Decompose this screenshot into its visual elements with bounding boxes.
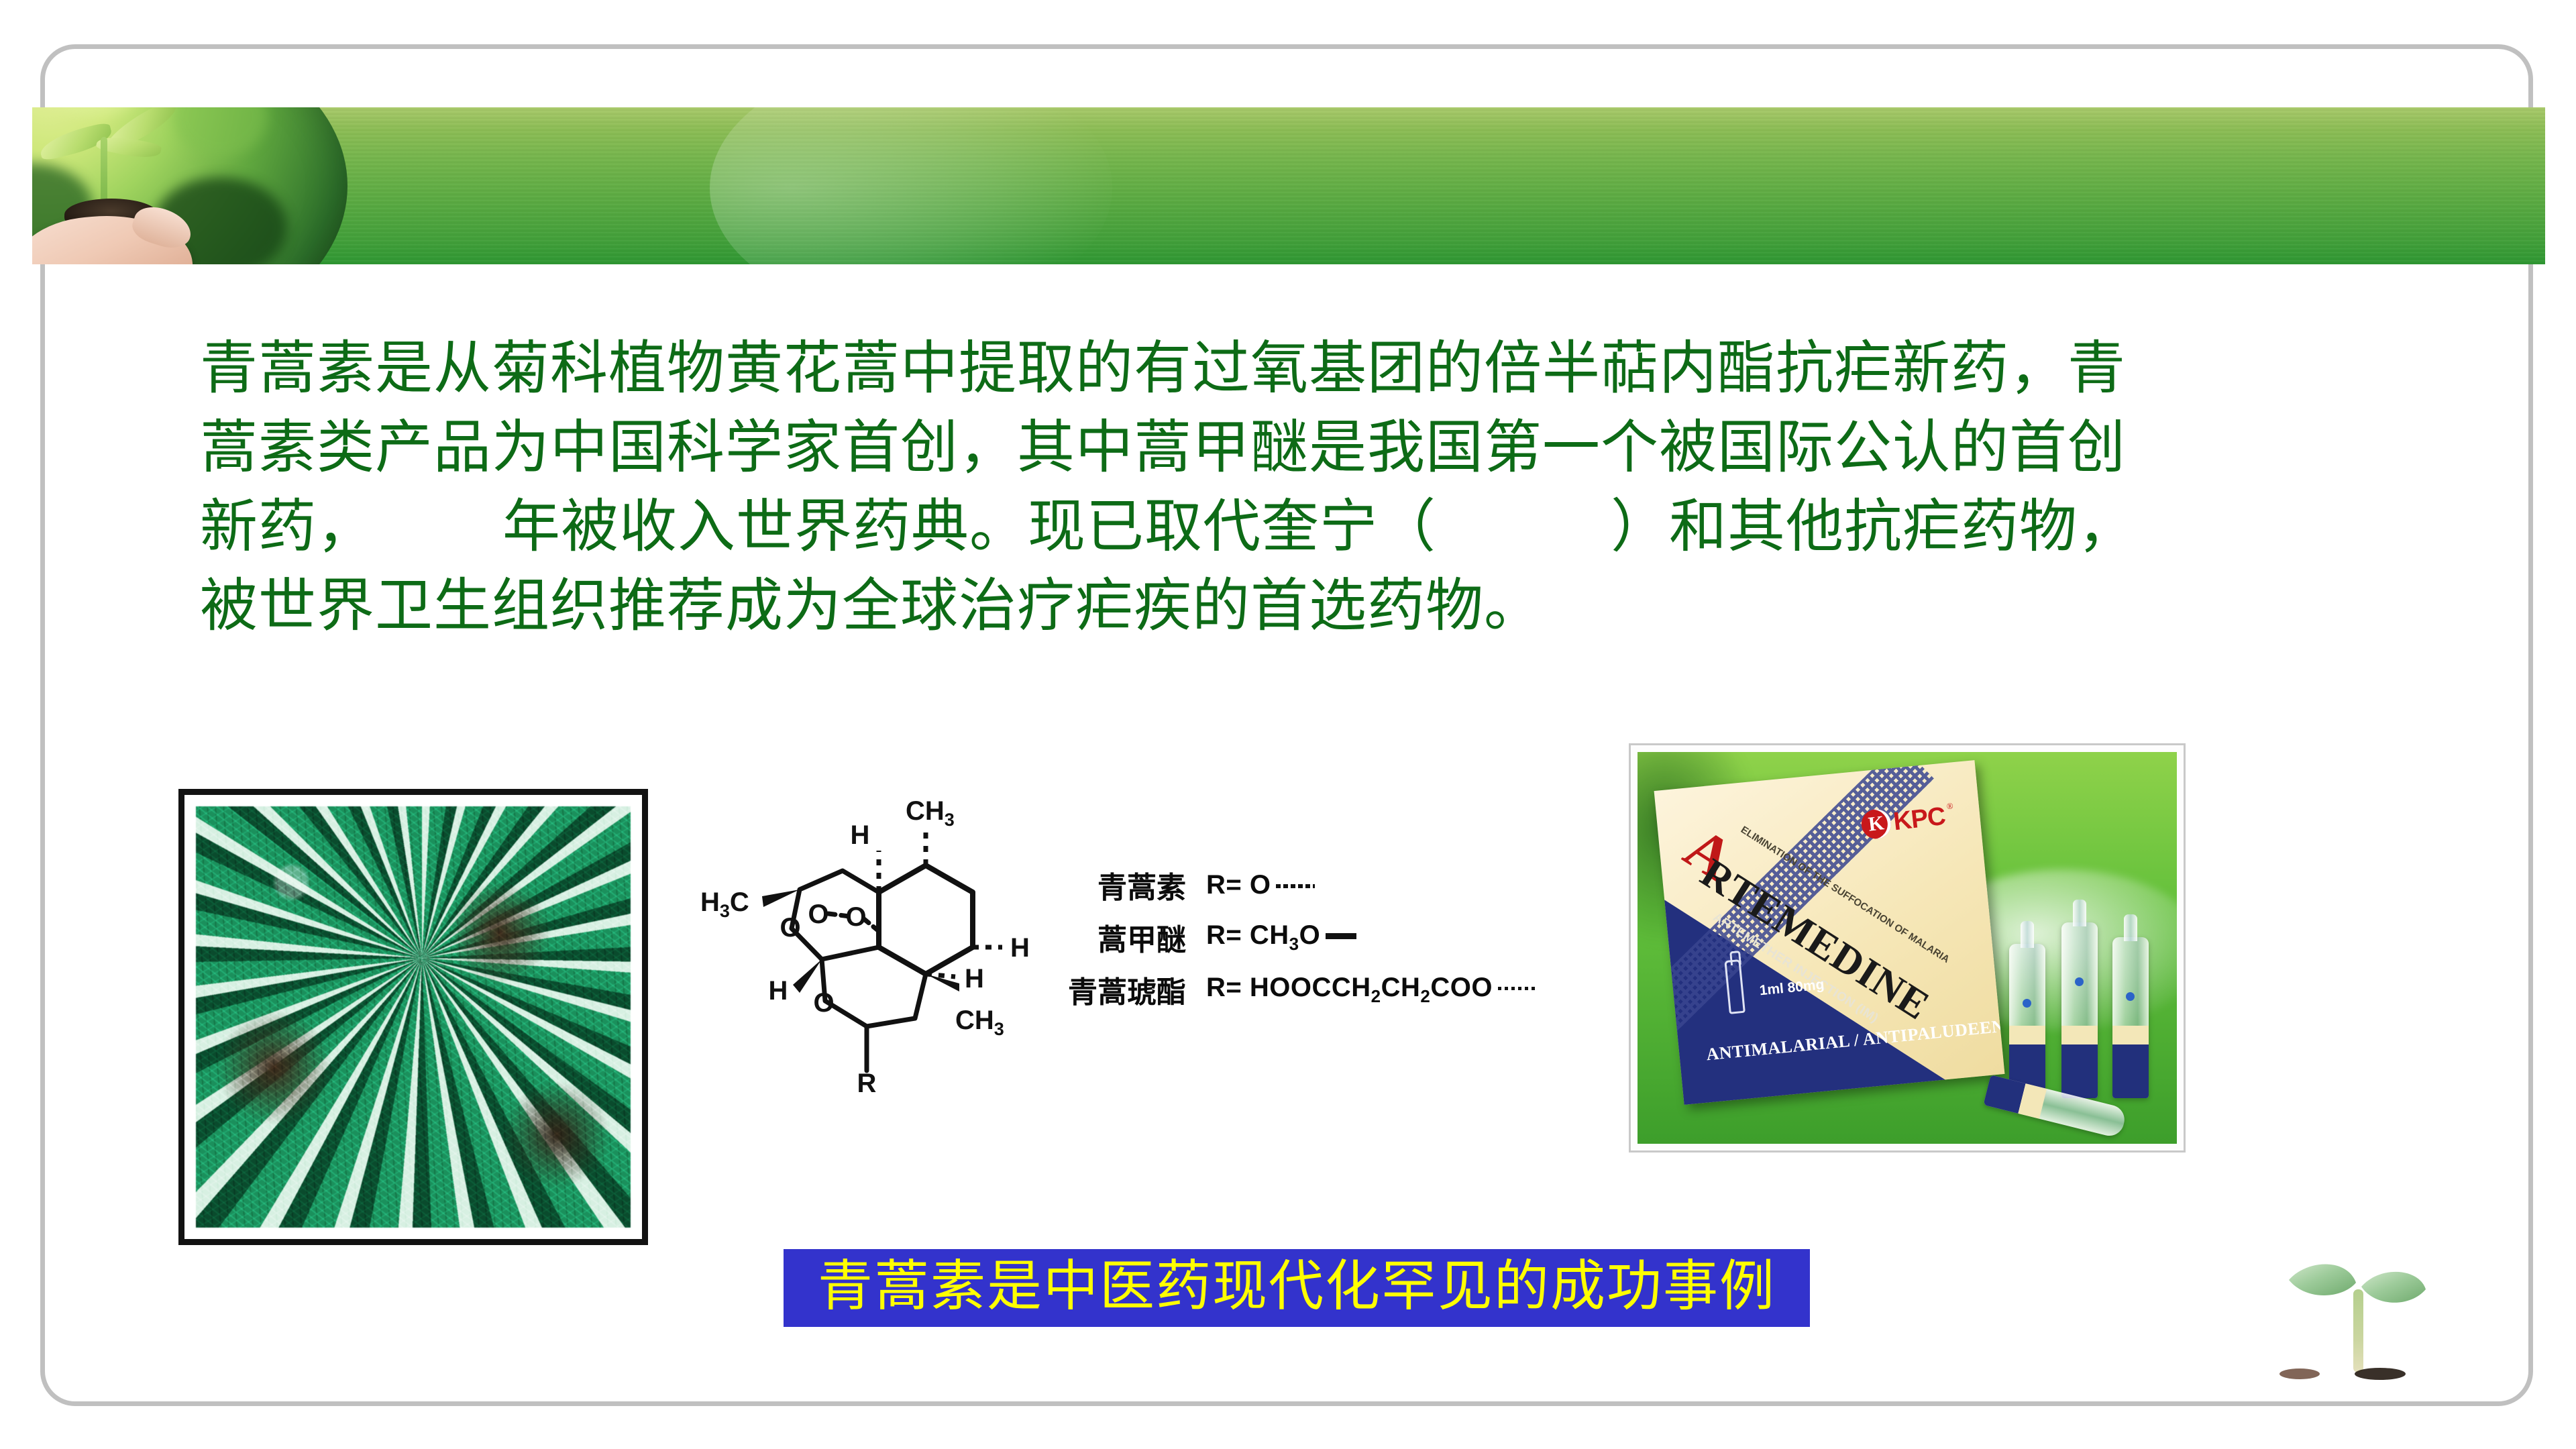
artemisia-plant-photo <box>196 806 631 1228</box>
body-paragraph: 青蒿素是从菊科植物黄花蒿中提取的有过氧基团的倍半萜内酯抗疟新药，青蒿素类产品为中… <box>200 329 2414 645</box>
sprout-decoration-icon <box>2267 1241 2469 1415</box>
header-band <box>32 107 2545 264</box>
artemedine-photo-frame: ELIMINATION OF THE SUFFOCATION OF MALARI… <box>1629 743 2186 1152</box>
paragraph-line-3b: 年被收入世界药典。现已取代奎宁（ <box>502 494 1436 559</box>
kpc-logo-text: KPC <box>1892 802 1947 836</box>
label-h-left: H <box>769 976 788 1006</box>
ampoule-lying <box>1984 1075 2128 1138</box>
label-ch3-bottom: CH3 <box>955 1006 1004 1039</box>
legend-row: 青蒿素 R= O <box>1026 859 1536 911</box>
legend-name-artemether: 蒿甲醚 <box>1026 916 1206 959</box>
legend-formula-artesunate: R= HOOCCH2CH2COO <box>1206 973 1536 1007</box>
paragraph-line-2: 蒿素类产品为中国科学家首创，其中蒿甲醚是我国第一个被国际公认的首创 <box>200 408 2414 487</box>
seedling-stem <box>101 137 107 204</box>
legend-row: 蒿甲醚 R= CH3O <box>1026 911 1536 963</box>
artemedine-photo: ELIMINATION OF THE SUFFOCATION OF MALARI… <box>1638 752 2177 1144</box>
legend-row: 青蒿琥酯 R= HOOCCH2CH2COO <box>1026 963 1536 1016</box>
solid-bond-icon <box>1326 933 1356 939</box>
label-h-top: H <box>851 820 870 850</box>
label-h-right-lower: H <box>965 964 984 994</box>
registered-mark-icon: ® <box>1946 800 1954 812</box>
paragraph-line-4: 被世界卫生组织推荐成为全球治疗疟疾的首选药物。 <box>200 566 2414 645</box>
label-h3c-left: H3C <box>700 888 749 921</box>
header-photo-oval <box>32 107 347 264</box>
slide-canvas: 青蒿素是从菊科植物黄花蒿中提取的有过氧基团的倍半萜内酯抗疟新药，青蒿素类产品为中… <box>0 0 2576 1449</box>
paragraph-line-3c: ）和其他抗疟药物， <box>1611 494 2136 559</box>
paragraph-line-3a: 新药， <box>200 494 375 559</box>
legend-name-artemisinin: 青蒿素 <box>1026 863 1206 906</box>
highlight-caption-banner: 青蒿素是中医药现代化罕见的成功事例 <box>784 1249 1810 1327</box>
kpc-logo-mark: K <box>1860 808 1892 841</box>
medicine-box: ELIMINATION OF THE SUFFOCATION OF MALARI… <box>1654 760 2005 1105</box>
label-o-lactone: O <box>813 988 834 1018</box>
label-o-peroxide-1: O <box>808 900 828 929</box>
ampoule <box>2112 937 2149 1098</box>
paragraph-line-1: 青蒿素是从菊科植物黄花蒿中提取的有过氧基团的倍半萜内酯抗疟新药，青 <box>200 329 2414 408</box>
wavy-bond-icon <box>1276 884 1315 888</box>
legend-formula-artemisinin: R= O <box>1206 870 1315 900</box>
bokeh-blob <box>173 107 267 157</box>
legend-name-artesunate: 青蒿琥酯 <box>1026 968 1206 1011</box>
label-o-ring: O <box>780 913 800 943</box>
paragraph-line-3: 新药，年被收入世界药典。现已取代奎宁（）和其他抗疟药物， <box>200 487 2414 566</box>
header-seedling-photo <box>32 107 347 264</box>
legend-formula-artemether: R= CH3O <box>1206 920 1356 955</box>
ampoule-group <box>1972 917 2159 1138</box>
ampoule <box>2061 922 2098 1098</box>
label-r-group: R <box>857 1069 877 1098</box>
dotted-bond-icon <box>1498 987 1536 990</box>
structure-legend: 青蒿素 R= O 蒿甲醚 R= CH3O 青蒿琥酯 R= HOOCCH2CH2C… <box>1026 859 1536 1016</box>
ampoule <box>2009 944 2045 1098</box>
label-o-peroxide-2: O <box>845 902 866 932</box>
artemisia-plant-photo-frame <box>178 789 648 1245</box>
caption-text: 青蒿素是中医药现代化罕见的成功事例 <box>818 1259 1776 1314</box>
bokeh-blob <box>46 107 146 117</box>
label-ch3-top: CH3 <box>906 796 955 830</box>
